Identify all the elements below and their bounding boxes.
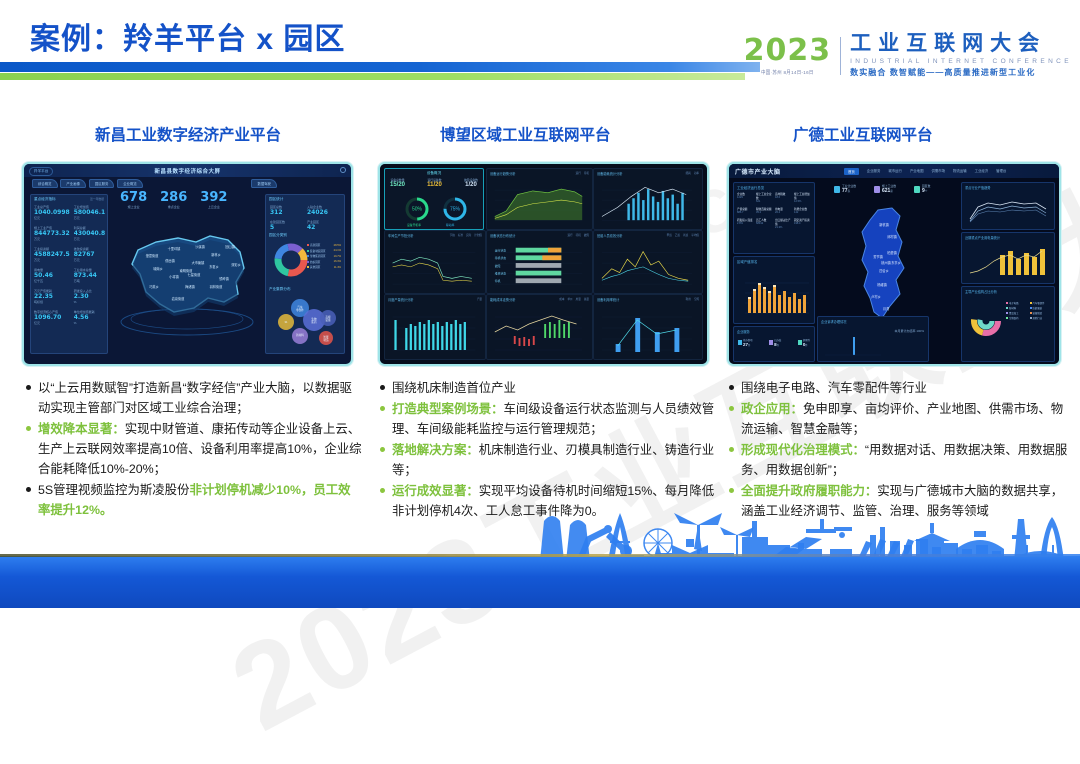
stat-cell: 数字经济核心产值1096.70亿元 (34, 310, 70, 325)
legend-swatch (307, 266, 309, 268)
svg-text:七星街道: 七星街道 (188, 272, 202, 277)
bullet-item: 政企应用：免申即享、亩均评价、产业地图、供需市场、物流运输、智慧金融等； (729, 399, 1069, 439)
chart-panel-title: 设备运行趋势分析 (490, 171, 516, 176)
stat-value: 21.3% (775, 226, 792, 229)
svg-text:新林乡: 新林乡 (211, 252, 221, 257)
logo-year: 2023 (744, 36, 832, 66)
bullet-text: 政企应用：免申即享、亩均评价、产业地图、供需市场、物流运输、智慧金融等； (741, 399, 1069, 439)
stat-unit: 吨标煤 (34, 300, 70, 304)
bottom-kpi: 超期件0件 (798, 338, 810, 347)
legend-entry: 乙班 (675, 234, 680, 237)
legend-entry: 甲班 (667, 234, 672, 237)
chart-plot[interactable] (598, 242, 696, 286)
top-kpi-unit: 家 (890, 190, 893, 193)
bottom-kpi-unit: 件 (777, 344, 779, 347)
stat-cell: 万元产值能耗22.35吨标煤 (34, 289, 70, 304)
stat-cell: 出口额占比产值21.3% (775, 218, 792, 229)
gauge-label-0: 设备开机率 (407, 223, 421, 227)
stat-value: 12.5% (794, 200, 811, 203)
svg-text:岩泉街道: 岩泉街道 (172, 296, 186, 301)
gauge-stat-value: 1/20 (464, 182, 478, 188)
stat-value: 82767 (74, 251, 106, 258)
bullet-dot-icon (380, 406, 385, 411)
chart-plot[interactable] (491, 180, 586, 222)
kpi-row: 678 规上企业 286 重点企业 392 上云企业 (120, 190, 227, 209)
tab-综合概览[interactable]: 综合概览 (32, 179, 58, 188)
legend-item: 生物医药园区19.7% (307, 254, 341, 258)
dashboard-1-title: 新昌县数字经济综合大屏 (154, 167, 220, 175)
legend-swatch (307, 250, 309, 252)
stat-label: 规上工业增加值 (794, 192, 811, 200)
chart-plot[interactable] (598, 306, 696, 352)
stat-cell: 工业用水总量873.44万吨 (74, 268, 106, 283)
legend-entry: 空闲 (694, 298, 699, 301)
stat-cell: 规上工业增加值12.5% (794, 192, 811, 203)
stat-value: 18.6 (775, 196, 792, 199)
chart-panel-title: 能耗成本走势分析 (490, 297, 516, 302)
left-panel-action[interactable]: 近一年数据 (90, 197, 104, 201)
nav-item-首页[interactable]: 首页 (844, 168, 859, 175)
stat-value: 5 (270, 224, 303, 231)
bottom-kpi-row: 待办事项27件已办结8件超期件0件 (738, 338, 810, 347)
chart-panel-title: 设备能耗统计分析 (597, 171, 623, 176)
bullet-dot-icon (380, 385, 385, 390)
nav-item-产业地图[interactable]: 产业地图 (910, 168, 924, 175)
chart-plot[interactable] (389, 242, 479, 286)
bullet-item: 围绕电子电路、汽车零配件等行业 (729, 378, 1069, 398)
chart-panel[interactable]: 设备运行趋势分析运行待机 (486, 168, 593, 230)
city-map[interactable]: 新杭镇邱村镇 誓节镇柏垫镇 桃州镇东亭乡 四合乡杨滩镇 卢村乡月湾 (834, 202, 944, 332)
stat-cell: 工业投资额4588247.5万元 (34, 247, 70, 262)
stat-cell: 园区总数312 (270, 205, 303, 216)
stat-value: 1096.70 (34, 314, 70, 321)
legend-label: 电子电路 (1009, 301, 1019, 305)
chart-panel[interactable]: 设备状态分布统计运行待机故障运行状态待机状态故障维修状态停机 (486, 230, 593, 294)
bullet-item: 围绕机床制造首位产业 (380, 378, 716, 398)
svg-text:誓节镇: 誓节镇 (873, 254, 883, 259)
legend-swatch (1030, 317, 1032, 319)
dashboard-3-nav[interactable]: 首页企业服务城市运行产业地图供需市场物流运输工业经济管理台 (844, 168, 1006, 175)
stat-value: 2.30 (74, 293, 106, 300)
legend-entry: 能耗 (686, 172, 691, 175)
bullet-text: 落地解决方案：机床制造行业、刃模具制造行业、铸造行业等； (392, 440, 716, 480)
svg-text:城南乡: 城南乡 (153, 266, 163, 271)
bottom-left-panel: 企业服务 待办事项27件已办结8件超期件0件 (733, 326, 815, 362)
stat-cell: 入驻企业数24026 (307, 205, 340, 216)
svg-text:邱村镇: 邱村镇 (887, 234, 897, 239)
legend-entry: 标准 (458, 234, 463, 237)
stat-value: 22.35 (34, 293, 70, 300)
legend-entry: 平均值 (691, 234, 699, 237)
left-overview-panel: 工业经济运行总览 企业数1229规上工业企业数621亩均税收18.6规上工业增加… (733, 182, 815, 254)
tab-企业概览[interactable]: 企业概览 (117, 179, 143, 188)
dashboard-3-title: 广德市产业大脑 (735, 167, 781, 176)
chart-panel-legend: 甲班乙班丙班平均值 (664, 233, 699, 237)
tab-数据驾驶[interactable]: 数据驾驶 (251, 179, 277, 188)
stat-cell: 企业数1229 (737, 192, 754, 203)
svg-text:澄潭街道: 澄潭街道 (146, 253, 160, 258)
kpi-icon (874, 186, 880, 193)
footer-band (0, 556, 1080, 608)
tab-园区服务[interactable]: 园区服务 (89, 179, 115, 188)
bubble-title: 产业集群分布 (269, 287, 291, 292)
bullet-item: 增效降本显著：实现中财管道、康拓传动等企业设备上云、生产上云联网效率提高10倍、… (26, 419, 362, 479)
logo-name-cn: 工业互联网大会 (850, 33, 1072, 55)
chart-panel[interactable]: 设备能耗统计分析能耗功率 (593, 168, 703, 230)
stat-value: 4588247.5 (34, 251, 70, 258)
bottom-panel-title: 企业诉求办理情况 (821, 319, 847, 324)
legend-swatch (1006, 302, 1008, 304)
svg-text:装备: 装备 (325, 318, 331, 322)
kpi-value: 286 (160, 190, 187, 205)
stat-value: 26.4 (775, 211, 792, 214)
bullet-dot-icon (26, 426, 31, 431)
top-kpi-unit: 家 (848, 190, 851, 193)
stat-label: 规上工业企业数 (756, 192, 773, 200)
svg-text:镜岭镇: 镜岭镇 (219, 276, 229, 281)
stat-cell: 产业园区42 (307, 220, 340, 231)
svg-text:维修状态: 维修状态 (495, 272, 506, 276)
legend-label: 高新园区 (310, 243, 320, 247)
bullet-item: 打造典型案例场景：车间级设备运行状态监测与人员绩效管理、车间级能耗监控与运行管理… (380, 399, 716, 439)
legend-entry: 单价 (567, 298, 572, 301)
top-kpi: 园区数9个 (914, 184, 930, 194)
svg-text:月湾: 月湾 (883, 306, 890, 311)
stat-unit: 万元 (34, 258, 70, 262)
kpi-label: 上云企业 (200, 205, 227, 209)
kpi-icon (914, 186, 920, 193)
stat-unit: 亿元 (34, 321, 70, 325)
bottom-left-title: 企业服务 (737, 329, 750, 334)
header-accent-bar-blue (0, 62, 760, 72)
legend-entry: 利用 (686, 298, 691, 301)
chart-plot[interactable]: 运行状态待机状态故障维修状态停机 (491, 242, 586, 286)
legend-label: 装备制造园区 (310, 249, 326, 253)
svg-text:十里坪镇: 十里坪镇 (168, 246, 182, 251)
svg-text:新材料: 新材料 (296, 333, 304, 337)
svg-text:双彩乡: 双彩乡 (231, 262, 241, 267)
legend-value: 28.5% (334, 244, 341, 247)
stat-cell: 规上工业企业数621 (756, 192, 773, 203)
stat-cell: 税收贡献总额35.2 (756, 207, 773, 214)
donut-chart[interactable] (272, 241, 310, 279)
bullet-text: 形成现代化治理模式：“用数据对话、用数据决策、用数据服务、用数据创新”； (741, 440, 1069, 480)
svg-text:制造: 制造 (323, 338, 329, 342)
gauge-stat: 设备总数量15/20 (390, 178, 405, 188)
legend-swatch (1006, 317, 1008, 319)
bottom-kpi: 已办结8件 (769, 338, 781, 347)
stat-cell: 工业总产值1040.0998亿元 (34, 205, 70, 220)
legend-item: 其他园区11.4% (307, 265, 341, 269)
bullet-text: 围绕机床制造首位产业 (392, 378, 716, 398)
svg-text:小将镇: 小将镇 (169, 274, 179, 279)
bottom-kpi: 待办事项27件 (738, 338, 753, 347)
svg-text:新杭镇: 新杭镇 (879, 222, 889, 227)
legend-swatch (1030, 312, 1032, 314)
bullet-dot-icon (729, 385, 734, 390)
chart-panel-title: 班组人员绩效分析 (597, 233, 623, 238)
legend-item: 电子电路 (1006, 301, 1029, 305)
right-panel-0-title: 重点行业产值趋势 (965, 185, 991, 190)
svg-text:待机状态: 待机状态 (495, 256, 506, 260)
chart-panel-legend: 运行待机故障 (564, 233, 589, 237)
stat-cell: 新增企业数142 (794, 207, 811, 214)
logo-tagline: 数实融合 数智赋能——高质量推进新型工业化 (850, 67, 1072, 78)
legend-entry: 运行 (576, 172, 581, 175)
legend-item: 装备制造园区24.1% (307, 249, 341, 253)
top-kpi-unit: 个 (925, 190, 928, 193)
donut-title: 园区分类别 (269, 233, 287, 238)
stat-unit: 万吨 (74, 279, 106, 283)
svg-text:运行状态: 运行状态 (495, 249, 506, 253)
bullet-dot-icon (26, 385, 31, 390)
legend-label: 食品加工 (1009, 311, 1019, 315)
right-panel-1-title: 近期重点产业用电量统计 (965, 235, 1000, 240)
bullet-item: 以“上云用数赋智”打造新昌“数字经信”产业大脑，以数据驱动实现主管部门对区域工业… (26, 378, 362, 418)
svg-text:卢村乡: 卢村乡 (871, 294, 881, 299)
donut-chart-structure[interactable] (968, 303, 1004, 339)
stat-value: 4.56 (74, 314, 106, 321)
legend-swatch (307, 255, 309, 257)
stat-cell: 技改投资额82767万元 (74, 247, 106, 262)
nav-item-供需市场[interactable]: 供需市场 (931, 168, 945, 175)
kpi-label: 重点企业 (160, 205, 187, 209)
chart-panel[interactable]: 车间生产节拍分析节拍标准实际计划值 (384, 230, 486, 294)
left-stats-panel: 重点经济指标 近一年数据 工业总产值1040.0998亿元工业增加值580046… (30, 194, 108, 354)
right-panel-title: 园区统计 (269, 197, 283, 202)
bullet-lead: 打造典型案例场景： (392, 402, 504, 416)
legend-item: 食品加工 (1006, 311, 1029, 315)
bullet-text: 打造典型案例场景：车间级设备运行状态监测与人员绩效管理、车间级能耗监控与运行管理… (392, 399, 716, 439)
kpi-item: 678 规上企业 (120, 190, 147, 209)
chart-plot[interactable] (491, 306, 586, 352)
gauge-stat-value: 15/20 (390, 182, 405, 188)
stat-value: 621 (756, 200, 773, 203)
legend-item: 汽车零部件 (1030, 301, 1053, 305)
gauge-openrate-icon: 50% (403, 195, 431, 223)
stat-unit: % (74, 321, 106, 325)
dashboard-screenshot-xinchang[interactable]: 羚羊平台 新昌县数字经济综合大屏 综合概览 产业画像 园区服务 企业概览 数据驾… (22, 162, 353, 366)
gauge-stat: 故障设备数1/20 (464, 178, 478, 188)
chart-panel-title: 设备状态分布统计 (490, 233, 516, 238)
chart-panel-title: 月度产量统计分析 (388, 297, 414, 302)
logo-year-block: 2023 中国·苏州 8月14日-16日 (744, 36, 841, 76)
legend-item: 装备制造 (1030, 311, 1053, 315)
kpi-label: 规上企业 (120, 205, 147, 209)
svg-text:桃州镇: 桃州镇 (881, 260, 891, 265)
stat-value: 886.7 (737, 211, 754, 214)
chart-panel-legend: 成本单价用量总量 (556, 297, 589, 301)
right-stats-panel: 园区统计 园区总数312入驻企业数24026在建园区数5产业园区42 园区分类别… (265, 194, 345, 354)
stat-value: 35.2 (756, 211, 773, 214)
legend-swatch (1030, 307, 1032, 309)
legend-label: 生物医药园区 (310, 254, 326, 258)
legend-item: 纺织园区16.3% (307, 260, 341, 264)
nav-item-管理台[interactable]: 管理台 (996, 168, 1006, 175)
dashboard-screenshot-bowang[interactable]: 设备概况 设备总数量15/20运行设备数11/20故障设备数1/20 50% 7… (378, 162, 709, 366)
user-avatar-icon[interactable] (340, 167, 346, 173)
logo-year-subtitle: 中国·苏州 8月14日-16日 (761, 69, 814, 76)
stat-unit: 万元 (74, 237, 106, 241)
svg-text:东亭乡: 东亭乡 (891, 260, 901, 265)
stat-value: 873.44 (74, 272, 106, 279)
gauge-label-1: 稼动率 (446, 223, 454, 227)
svg-text:50%: 50% (412, 207, 423, 213)
stat-value: 844773.32 (34, 230, 70, 237)
svg-text:羽林街道: 羽林街道 (210, 284, 224, 289)
nav-item-城市运行[interactable]: 城市运行 (888, 168, 902, 175)
nav-item-工业经济[interactable]: 工业经济 (975, 168, 989, 175)
chart-plot[interactable] (598, 180, 696, 222)
stat-unit: 万元 (34, 237, 70, 241)
gauge-stats-row: 设备总数量15/20运行设备数11/20故障设备数1/20 (390, 178, 478, 188)
stat-cell: 研发投入强度2.8% (737, 218, 754, 229)
pie-legend: 电子电路汽车零部件新材料纺织服装食品加工装备制造生物医药其他行业 (1006, 301, 1052, 320)
region-map[interactable]: 十里坪镇沙溪镇回山镇 澄潭街道新林乡 大市聚镇儒岙镇 城南乡东茗乡双彩乡 南明街… (112, 226, 262, 341)
bar-panel-title: 区域产值排名 (737, 259, 757, 264)
legend-value: 16.3% (334, 260, 341, 263)
stat-cell: 用电量26.4 (775, 207, 792, 214)
dashboard-1-tabs[interactable]: 综合概览 产业画像 园区服务 企业概览 (32, 179, 145, 188)
top-kpi: 工业企业数77家 (834, 184, 856, 194)
stat-cell: 员工人数68912 (756, 218, 773, 229)
svg-text:巧英乡: 巧英乡 (149, 284, 159, 289)
svg-text:75%: 75% (450, 207, 461, 213)
legend-label: 其他行业 (1033, 316, 1043, 320)
bullet-dot-icon (729, 488, 734, 493)
bottom-bar-chart[interactable] (823, 333, 883, 357)
right-panel-2: 主导产业结构占比分析 电子电路汽车零部件新材料纺织服装食品加工装备制造生物医药其… (961, 286, 1055, 362)
legend-entry: 节拍 (450, 234, 455, 237)
svg-text:四合乡: 四合乡 (879, 268, 889, 273)
chart-panel-legend: 节拍标准实际计划值 (447, 233, 482, 237)
legend-swatch (1006, 307, 1008, 309)
legend-entry: 产量 (477, 298, 482, 301)
legend-entry: 待机 (584, 172, 589, 175)
stat-value: 2.8% (737, 222, 754, 225)
svg-text:停机: 停机 (495, 279, 501, 283)
legend-label: 纺织服装 (1033, 306, 1043, 310)
gauge-utilization-icon: 75% (441, 195, 469, 223)
legend-label: 装备制造 (1033, 311, 1043, 315)
svg-text:儒岙镇: 儒岙镇 (165, 258, 175, 263)
column-title-guangde: 广德工业互联网平台 (793, 123, 933, 145)
svg-text:沙溪镇: 沙溪镇 (195, 244, 205, 249)
legend-item: 高新园区28.5% (307, 243, 341, 247)
svg-text:杨滩镇: 杨滩镇 (877, 282, 887, 287)
bottom-panel: 企业诉求办理情况 本月累计办结率 100% (817, 316, 929, 362)
left-stats-grid: 工业总产值1040.0998亿元工业增加值580046.1万元规上工业产值844… (34, 205, 104, 325)
legend-value: 19.7% (334, 255, 341, 258)
stat-value: 68912 (756, 222, 773, 225)
svg-text:零部件: 零部件 (296, 308, 304, 312)
stat-unit: 万元 (74, 258, 106, 262)
stat-cell: 工业增加值580046.1万元 (74, 205, 106, 220)
dashboard-screenshot-guangde[interactable]: 广德市产业大脑 首页企业服务城市运行产业地图供需市场物流运输工业经济管理台 工业… (727, 162, 1061, 366)
bottom-kpi-unit: 件 (805, 344, 807, 347)
bullet-dot-icon (380, 447, 385, 452)
stat-value: 1229 (737, 196, 754, 199)
kpi-icon (798, 340, 802, 345)
stat-value: 198.4 (794, 222, 811, 225)
logo-name-block: 工业互联网大会 INDUSTRIAL INTERNET CONFERENCE 数… (850, 33, 1072, 78)
legend-label: 新材料 (1009, 306, 1016, 310)
left-overview-title: 工业经济运行总览 (737, 185, 764, 190)
dashboard-1-brand: 羚羊平台 (29, 167, 53, 176)
legend-entry: 待机 (576, 234, 581, 237)
legend-entry: 总量 (584, 298, 589, 301)
legend-label: 生物医药 (1009, 316, 1019, 320)
top-kpi-row: 工业企业数77家规上工业数621家园区数9个 (834, 184, 930, 194)
bullet-lead: 形成现代化治理模式： (741, 443, 865, 457)
bullet-lead: 运行成效显著： (392, 484, 479, 498)
legend-label: 其他园区 (310, 265, 320, 269)
stat-value: 312 (270, 209, 303, 216)
left-overview-grid: 企业数1229规上工业企业数621亩均税收18.6规上工业增加值12.5%产值总… (737, 192, 811, 229)
svg-text:故障: 故障 (495, 264, 501, 268)
bullets-xinchang: 以“上云用数赋智”打造新昌“数字经信”产业大脑，以数据驱动实现主管部门对区域工业… (26, 378, 362, 521)
chart-panel[interactable]: 班组人员绩效分析甲班乙班丙班平均值 (593, 230, 703, 294)
bar-chart-region[interactable] (739, 269, 811, 319)
stat-unit: % (74, 300, 106, 304)
legend-label: 汽车零部件 (1033, 301, 1045, 305)
legend-entry: 运行 (567, 234, 572, 237)
stat-cell: 单位增加值能耗4.56% (74, 310, 106, 325)
legend-entry: 计划值 (474, 234, 482, 237)
bubble-chart[interactable]: 汽车零部件 生物医药 31 高端装备 新材料 智能制造 (270, 294, 340, 350)
legend-entry: 实际 (466, 234, 471, 237)
bottom-note: 本月累计办结率 100% (894, 329, 924, 333)
page-title: 案例：羚羊平台 x 园区 (30, 14, 345, 58)
tab-产业画像[interactable]: 产业画像 (60, 179, 86, 188)
legend-item: 生物医药 (1006, 316, 1029, 320)
legend-entry: 用量 (576, 298, 581, 301)
kpi-value: 678 (120, 190, 147, 205)
kpi-value: 392 (200, 190, 227, 205)
stat-cell: 亩均税收18.6 (775, 192, 792, 203)
nav-item-物流运输[interactable]: 物流运输 (953, 168, 967, 175)
bullet-dot-icon (729, 406, 734, 411)
chart-panel[interactable]: 设备利用率统计利用空闲 (593, 294, 703, 360)
bullet-item: 落地解决方案：机床制造行业、刃模具制造行业、铸造行业等； (380, 440, 716, 480)
bar-panel: 区域产值排名 (733, 256, 815, 324)
line-chart-industry[interactable] (966, 195, 1050, 225)
dashboard-canvas-2: 设备概况 设备总数量15/20运行设备数11/20故障设备数1/20 50% 7… (380, 164, 707, 364)
gauge-stat: 运行设备数11/20 (427, 178, 442, 188)
stat-cell: 规上工业产值844773.32万元 (34, 226, 70, 241)
logo-name-en: INDUSTRIAL INTERNET CONFERENCE (850, 58, 1072, 65)
chart-panel-title: 车间生产节拍分析 (388, 233, 414, 238)
chart-panel[interactable]: 月度产量统计分析产量 (384, 294, 486, 360)
nav-item-企业服务[interactable]: 企业服务 (867, 168, 881, 175)
chart-panel-legend: 能耗功率 (683, 171, 699, 175)
kpi-icon (738, 340, 742, 345)
chart-panel[interactable]: 能耗成本走势分析成本单价用量总量 (486, 294, 593, 360)
right-panel-2-title: 主导产业结构占比分析 (965, 289, 997, 294)
bar-chart-power[interactable] (966, 245, 1050, 279)
chart-plot[interactable] (389, 306, 479, 352)
stat-unit: 亿千瓦 (34, 279, 70, 283)
legend-item: 新材料 (1006, 306, 1029, 310)
chart-panel-legend: 产量 (474, 297, 482, 301)
chart-panel-legend: 利用空闲 (683, 297, 699, 301)
stat-cell: 用电量50.46亿千瓦 (34, 268, 70, 283)
stat-value: 42 (307, 224, 340, 231)
bullet-text: 以“上云用数赋智”打造新昌“数字经信”产业大脑，以数据驱动实现主管部门对区域工业… (38, 378, 362, 418)
stat-value: 1040.0998 (34, 209, 70, 216)
stat-label: 出口额占比产值 (775, 218, 792, 226)
dashboard-canvas-1: 羚羊平台 新昌县数字经济综合大屏 综合概览 产业画像 园区服务 企业概览 数据驾… (24, 164, 351, 364)
